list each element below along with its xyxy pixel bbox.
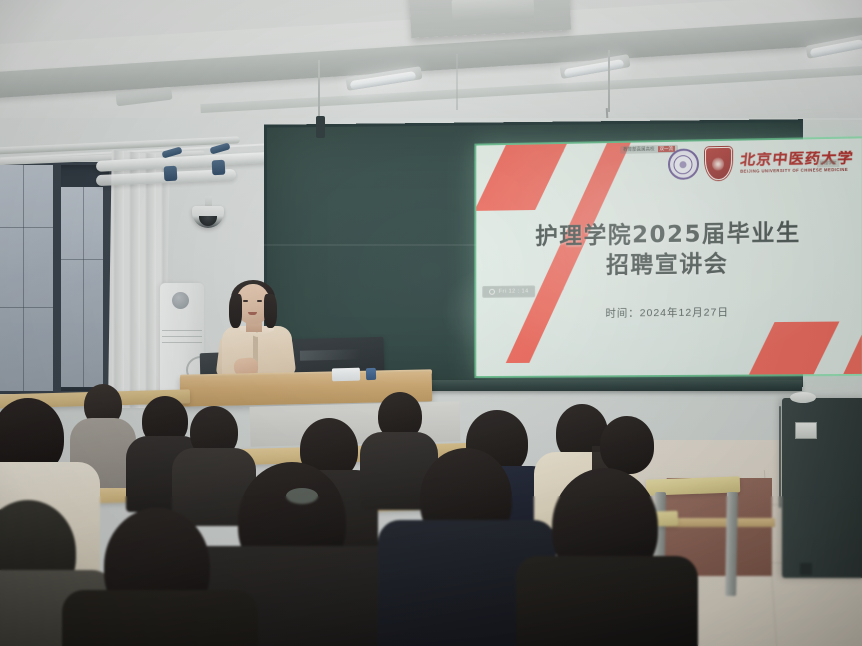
slide-title: 护理学院2025届毕业生 招聘宣讲会 bbox=[476, 217, 861, 283]
audience-torso bbox=[516, 556, 698, 646]
blackboard-clip bbox=[316, 116, 325, 138]
classroom-window bbox=[0, 162, 112, 394]
equipment-cabinet bbox=[782, 398, 862, 578]
hair-tie bbox=[286, 488, 318, 504]
window-mullion bbox=[53, 165, 61, 391]
cabinet-cable bbox=[779, 406, 781, 508]
speaker-eye bbox=[257, 300, 262, 302]
slide-accent-stripe bbox=[742, 322, 839, 377]
classroom-photo-scene: 教育部直属高校 双一流 北京中医药大学 BEIJING UNIVERSITY O… bbox=[0, 0, 862, 646]
slide-accent-stripe bbox=[476, 138, 570, 211]
speaker-hair-side bbox=[229, 294, 242, 328]
cabinet-label-plate bbox=[795, 422, 817, 439]
speaker-eye bbox=[243, 300, 248, 302]
tissue-box bbox=[332, 368, 360, 382]
window-grid-line bbox=[0, 227, 53, 228]
window-pane bbox=[59, 187, 105, 387]
hanging-rod bbox=[318, 60, 320, 120]
nursing-school-seal-icon bbox=[668, 148, 699, 180]
blue-cup bbox=[366, 368, 376, 380]
slide-date: 时间：2024年12月27日 bbox=[476, 303, 861, 322]
window-mullion bbox=[103, 183, 109, 389]
bucm-crest-icon bbox=[705, 147, 732, 181]
slide-title-line2: 招聘宣讲会 bbox=[476, 248, 861, 283]
clock-icon bbox=[489, 289, 495, 295]
air-conditioner-dial-icon[interactable] bbox=[172, 292, 189, 309]
window-pane bbox=[0, 165, 53, 391]
hanging-rod bbox=[456, 54, 458, 110]
speaker-hair-side bbox=[264, 294, 277, 328]
university-name-en: BEIJING UNIVERSITY OF CHINESE MEDICINE bbox=[740, 168, 853, 174]
audience-head bbox=[600, 416, 654, 474]
monitor-screen-glare bbox=[300, 349, 360, 360]
window-grid-line bbox=[0, 307, 53, 308]
presentation-toolbar-widget[interactable]: Fri 12 : 14 bbox=[482, 285, 535, 297]
hanging-rod bbox=[608, 50, 610, 112]
top-badge-text: 教育部直属高校 bbox=[623, 146, 654, 153]
pipe-collar bbox=[164, 166, 178, 182]
university-subunit: 护理学院 bbox=[817, 159, 839, 167]
ac-vent-line bbox=[162, 342, 202, 343]
slide-title-line1: 护理学院2025届毕业生 bbox=[476, 217, 861, 253]
window-grid-line bbox=[59, 259, 105, 260]
cabinet-top-object bbox=[790, 392, 816, 403]
widget-time-text: Fri 12 : 14 bbox=[499, 288, 529, 294]
window-grid-line bbox=[23, 165, 24, 391]
cabinet-foot bbox=[800, 563, 812, 575]
desk-leg bbox=[725, 492, 738, 596]
pipe-collar bbox=[212, 160, 226, 176]
ac-vent-line bbox=[162, 330, 202, 331]
window-grid-line bbox=[83, 187, 84, 387]
audience-torso bbox=[62, 590, 258, 646]
ac-vent-line bbox=[162, 336, 202, 337]
projected-slide: 教育部直属高校 双一流 北京中医药大学 BEIJING UNIVERSITY O… bbox=[476, 138, 861, 376]
